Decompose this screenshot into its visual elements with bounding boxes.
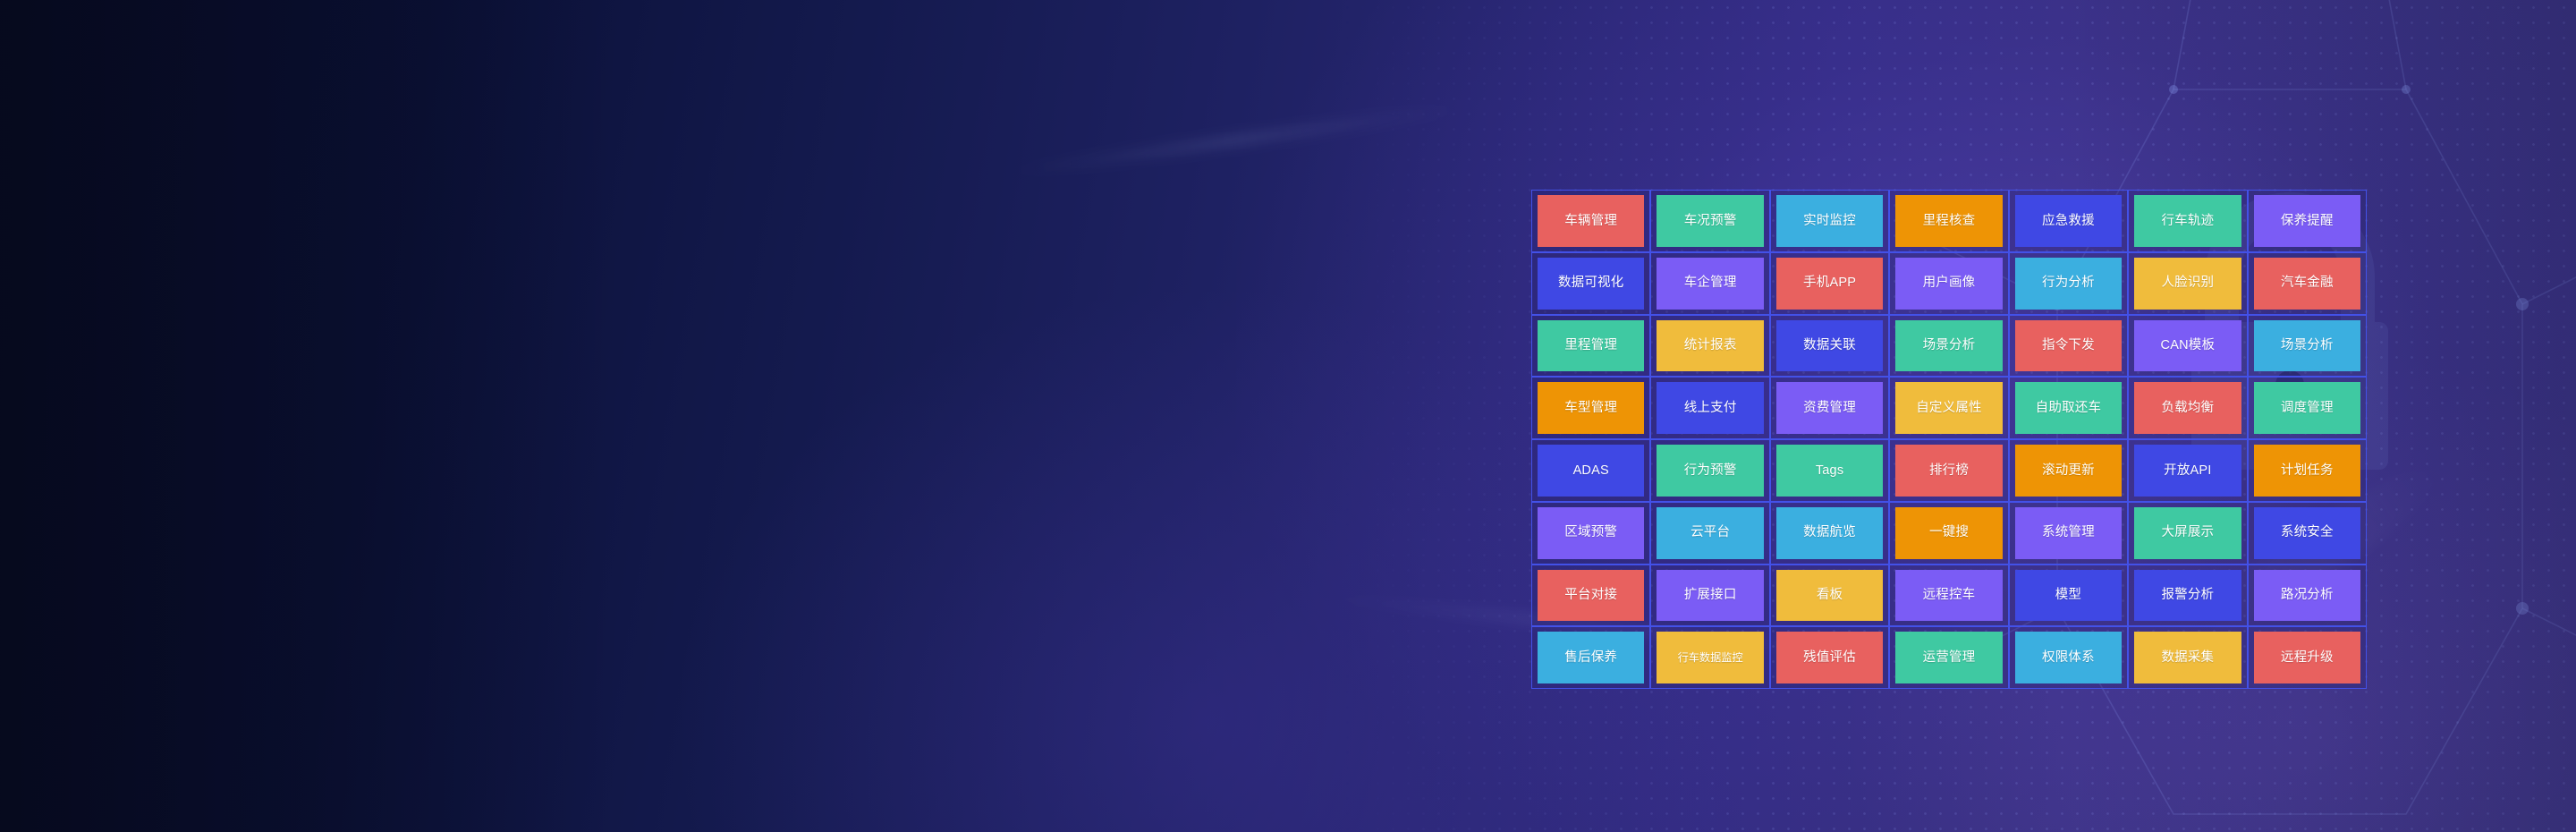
feature-tile-label: 车型管理 [1564,402,1617,415]
feature-tile[interactable]: 云平台 [1657,507,1763,559]
feature-tile-label: 资费管理 [1803,402,1856,415]
feature-tile-cell: 计划任务 [2248,439,2367,502]
feature-tile-label: 调度管理 [2281,402,2334,415]
feature-tile-label: 行车轨迹 [2161,215,2214,228]
feature-tile-cell: 行为预警 [1650,439,1769,502]
feature-tile-label: 用户画像 [1923,276,1976,290]
feature-tile-cell: 保养提醒 [2248,190,2367,252]
feature-tile-cell: 自定义属性 [1889,377,2008,439]
feature-tile-label: 运营管理 [1923,651,1976,665]
feature-tile-cell: 排行榜 [1889,439,2008,502]
feature-tile-label: 看板 [1817,589,1843,602]
feature-tile[interactable]: 排行榜 [1895,445,2002,497]
feature-tile-cell: Tags [1770,439,1889,502]
feature-tile-cell: 滚动更新 [2009,439,2128,502]
feature-tile[interactable]: 报警分析 [2134,570,2241,622]
feature-tile-cell: 人脸识别 [2128,252,2247,315]
feature-tile[interactable]: 车企管理 [1657,258,1763,310]
feature-tile[interactable]: 汽车金融 [2254,258,2360,310]
feature-tile-cell: 里程核查 [1889,190,2008,252]
feature-tile-label: 开放API [2164,464,2211,478]
feature-tile-cell: ADAS [1531,439,1650,502]
feature-tile-cell: 行车数据监控 [1650,626,1769,689]
feature-tile-label: 里程核查 [1923,215,1976,228]
feature-tile[interactable]: 一键搜 [1895,507,2002,559]
feature-tile-label: 滚动更新 [2042,464,2095,478]
feature-tile-label: 模型 [2055,589,2081,602]
feature-tile-label: 数据关联 [1803,339,1856,352]
feature-tile[interactable]: 模型 [2015,570,2122,622]
feature-tile-cell: 实时监控 [1770,190,1889,252]
feature-tile-label: 数据航览 [1803,526,1856,539]
feature-tile-label: 数据可视化 [1558,276,1624,290]
feature-tile-label: Tags [1816,464,1843,478]
feature-tile-label: 线上支付 [1684,402,1737,415]
feature-tile-cell: 看板 [1770,565,1889,627]
feature-tile-cell: 售后保养 [1531,626,1650,689]
feature-tile-label: 售后保养 [1564,651,1617,665]
feature-tile-cell: 行车轨迹 [2128,190,2247,252]
feature-tile-label: 报警分析 [2161,589,2214,602]
feature-tile[interactable]: 区域预警 [1538,507,1644,559]
feature-tile[interactable]: 数据航览 [1776,507,1883,559]
feature-tile-cell: 运营管理 [1889,626,2008,689]
feature-tile[interactable]: 扩展接口 [1657,570,1763,622]
feature-tile-cell: 用户画像 [1889,252,2008,315]
feature-tile[interactable]: 手机APP [1776,258,1883,310]
feature-tile-cell: 指令下发 [2009,315,2128,378]
feature-tile[interactable]: 行为分析 [2015,258,2122,310]
feature-tile[interactable]: 大屏展示 [2134,507,2241,559]
feature-tile[interactable]: 用户画像 [1895,258,2002,310]
feature-tile[interactable]: CAN模板 [2134,320,2241,372]
feature-tile-label: 车辆管理 [1564,215,1617,228]
feature-tile-label: 实时监控 [1803,215,1856,228]
feature-tile-cell: 区域预警 [1531,502,1650,565]
feature-tile-cell: 大屏展示 [2128,502,2247,565]
feature-tile[interactable]: 开放API [2134,445,2241,497]
feature-tile[interactable]: 行车数据监控 [1657,632,1763,683]
feature-tile-label: 残值评估 [1803,651,1856,665]
feature-tile[interactable]: 残值评估 [1776,632,1883,683]
feature-tile-cell: 数据采集 [2128,626,2247,689]
feature-tile[interactable]: 数据关联 [1776,320,1883,372]
feature-tile[interactable]: 车型管理 [1538,382,1644,434]
feature-tile-label: 系统管理 [2042,526,2095,539]
feature-tile-cell: 系统安全 [2248,502,2367,565]
feature-tile[interactable]: 自助取还车 [2015,382,2122,434]
feature-tile-label: CAN模板 [2161,339,2216,352]
feature-tile[interactable]: 自定义属性 [1895,382,2002,434]
feature-tile-cell: 线上支付 [1650,377,1769,439]
feature-tile-label: 应急救援 [2042,215,2095,228]
feature-tile-label: 里程管理 [1564,339,1617,352]
screen-root: 车辆管理车况预警实时监控里程核查应急救援行车轨迹保养提醒数据可视化车企管理手机A… [0,0,2576,832]
feature-tile-cell: 远程升级 [2248,626,2367,689]
feature-tile-cell: 车型管理 [1531,377,1650,439]
feature-tile-label: 系统安全 [2281,526,2334,539]
feature-tile-cell: 权限体系 [2009,626,2128,689]
feature-tile-cell: 汽车金融 [2248,252,2367,315]
feature-tile[interactable]: 数据可视化 [1538,258,1644,310]
feature-tile[interactable]: 系统管理 [2015,507,2122,559]
feature-tile-cell: 自助取还车 [2009,377,2128,439]
feature-tile[interactable]: 远程控车 [1895,570,2002,622]
feature-tile-label: 大屏展示 [2161,526,2214,539]
feature-tile[interactable]: 平台对接 [1538,570,1644,622]
feature-tile-label: 手机APP [1803,276,1856,290]
feature-tile[interactable]: 行为预警 [1657,445,1763,497]
feature-tile-cell: 统计报表 [1650,315,1769,378]
feature-tile-label: 区域预警 [1564,526,1617,539]
feature-tile-label: 车企管理 [1684,276,1737,290]
feature-tile[interactable]: 指令下发 [2015,320,2122,372]
feature-tile[interactable]: 系统安全 [2254,507,2360,559]
feature-tile-label: 指令下发 [2042,339,2095,352]
feature-tile-cell: 报警分析 [2128,565,2247,627]
feature-tile-cell: 扩展接口 [1650,565,1769,627]
feature-tile-cell: CAN模板 [2128,315,2247,378]
feature-tile-cell: 远程控车 [1889,565,2008,627]
feature-tile-cell: 车辆管理 [1531,190,1650,252]
feature-tile-cell: 平台对接 [1531,565,1650,627]
feature-tile-label: 权限体系 [2042,651,2095,665]
feature-tile-label: 行车数据监控 [1678,652,1743,663]
feature-tile-label: 统计报表 [1684,339,1737,352]
feature-tile-cell: 数据航览 [1770,502,1889,565]
feature-tile-cell: 调度管理 [2248,377,2367,439]
feature-tile[interactable]: 数据采集 [2134,632,2241,683]
feature-tile-cell: 开放API [2128,439,2247,502]
feature-tile-cell: 应急救援 [2009,190,2128,252]
feature-tile-cell: 云平台 [1650,502,1769,565]
feature-tile[interactable]: 行车轨迹 [2134,195,2241,247]
feature-tile-cell: 场景分析 [1889,315,2008,378]
feature-tile-cell: 行为分析 [2009,252,2128,315]
feature-tile[interactable]: 售后保养 [1538,632,1644,683]
feature-tile-label: 负载均衡 [2161,402,2214,415]
feature-tile-label: 远程控车 [1923,589,1976,602]
feature-tile-label: 场景分析 [1923,339,1976,352]
feature-tile[interactable]: 资费管理 [1776,382,1883,434]
feature-tile-label: 计划任务 [2281,464,2334,478]
feature-tile-cell: 手机APP [1770,252,1889,315]
feature-tile-label: 远程升级 [2281,651,2334,665]
feature-tile-label: 车况预警 [1684,215,1737,228]
feature-tile-label: 场景分析 [2281,339,2334,352]
feature-tile[interactable]: 权限体系 [2015,632,2122,683]
feature-tile[interactable]: 线上支付 [1657,382,1763,434]
feature-tile-cell: 资费管理 [1770,377,1889,439]
feature-tile-cell: 路况分析 [2248,565,2367,627]
feature-tile[interactable]: 远程升级 [2254,632,2360,683]
feature-tile-label: 人脸识别 [2161,276,2214,290]
feature-tile[interactable]: 看板 [1776,570,1883,622]
feature-tile-label: 保养提醒 [2281,215,2334,228]
feature-tile[interactable]: 滚动更新 [2015,445,2122,497]
feature-tile-cell: 数据关联 [1770,315,1889,378]
feature-tile-label: 平台对接 [1564,589,1617,602]
feature-tile-grid: 车辆管理车况预警实时监控里程核查应急救援行车轨迹保养提醒数据可视化车企管理手机A… [1531,190,2367,689]
feature-tile-label: 汽车金融 [2281,276,2334,290]
feature-tile[interactable]: 里程管理 [1538,320,1644,372]
feature-tile[interactable]: 场景分析 [2254,320,2360,372]
feature-tile-label: 自助取还车 [2036,402,2102,415]
feature-tile[interactable]: 应急救援 [2015,195,2122,247]
feature-tile[interactable]: 实时监控 [1776,195,1883,247]
feature-tile[interactable]: 车辆管理 [1538,195,1644,247]
feature-tile[interactable]: 里程核查 [1895,195,2002,247]
feature-tile-label: 行为分析 [2042,276,2095,290]
feature-tile-cell: 里程管理 [1531,315,1650,378]
feature-tile[interactable]: 计划任务 [2254,445,2360,497]
feature-tile-cell: 场景分析 [2248,315,2367,378]
feature-tile[interactable]: 运营管理 [1895,632,2002,683]
feature-tile-cell: 系统管理 [2009,502,2128,565]
feature-tile-cell: 模型 [2009,565,2128,627]
feature-tile-label: 行为预警 [1684,464,1737,478]
feature-tile[interactable]: 统计报表 [1657,320,1763,372]
feature-tile-label: 云平台 [1690,526,1730,539]
feature-tile[interactable]: 负载均衡 [2134,382,2241,434]
feature-tile[interactable]: 车况预警 [1657,195,1763,247]
feature-tile-cell: 数据可视化 [1531,252,1650,315]
feature-tile-label: 一键搜 [1929,526,1969,539]
feature-tile[interactable]: 路况分析 [2254,570,2360,622]
feature-tile[interactable]: Tags [1776,445,1883,497]
feature-tile-label: 数据采集 [2161,651,2214,665]
feature-tile-label: 路况分析 [2281,589,2334,602]
feature-tile-label: ADAS [1573,464,1609,478]
feature-tile-label: 排行榜 [1929,464,1969,478]
feature-tile[interactable]: 场景分析 [1895,320,2002,372]
feature-tile[interactable]: 人脸识别 [2134,258,2241,310]
feature-tile-label: 自定义属性 [1916,402,1982,415]
feature-tile-cell: 车况预警 [1650,190,1769,252]
feature-tile[interactable]: ADAS [1538,445,1644,497]
feature-tile[interactable]: 保养提醒 [2254,195,2360,247]
feature-tile-cell: 残值评估 [1770,626,1889,689]
feature-tile-cell: 负载均衡 [2128,377,2247,439]
feature-tile[interactable]: 调度管理 [2254,382,2360,434]
feature-tile-cell: 车企管理 [1650,252,1769,315]
feature-tile-label: 扩展接口 [1684,589,1737,602]
feature-tile-cell: 一键搜 [1889,502,2008,565]
